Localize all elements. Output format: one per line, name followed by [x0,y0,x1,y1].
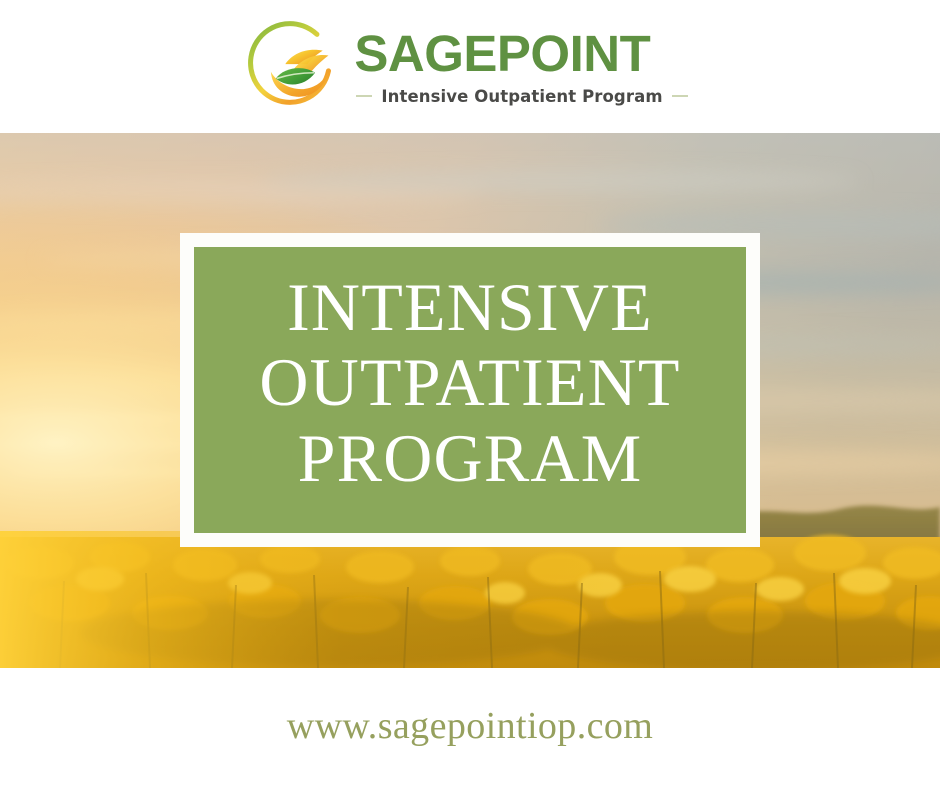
tagline-rule-left [356,95,372,97]
title-line-3: PROGRAM [298,421,643,496]
brand-wordmark: SAGEPOINT [354,28,687,79]
header-bar: SAGEPOINT Intensive Outpatient Program [0,0,940,133]
title-line-1: INTENSIVE [287,270,653,345]
brand-logo-text: SAGEPOINT Intensive Outpatient Program [354,28,687,106]
poster-canvas: SAGEPOINT Intensive Outpatient Program [0,0,940,788]
footer-bar: www.sagepointiop.com [0,668,940,788]
brand-logo[interactable]: SAGEPOINT Intensive Outpatient Program [244,19,687,115]
brand-tagline: Intensive Outpatient Program [381,87,662,106]
title-card-frame: INTENSIVE OUTPATIENT PROGRAM [180,233,760,547]
brand-tagline-row: Intensive Outpatient Program [354,87,687,106]
leaf-in-flame-circle-icon [244,19,340,115]
website-url[interactable]: www.sagepointiop.com [287,704,653,748]
title-panel: INTENSIVE OUTPATIENT PROGRAM [194,247,746,533]
title-line-2: OUTPATIENT [259,345,680,420]
tagline-rule-right [672,95,688,97]
